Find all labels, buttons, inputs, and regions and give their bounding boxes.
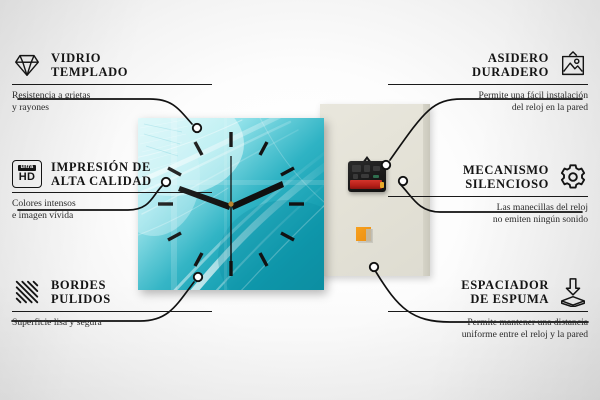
feature-title-line: MECANISMO [463,163,549,177]
arrow-onto-pad-icon [558,277,588,307]
feature-divider [12,84,212,85]
feature-title-line: TEMPLADO [51,65,128,79]
feature-vidrio-templado: VIDRIO TEMPLADO Resistencia a grietas y … [12,50,212,113]
feature-espaciador-de-espuma: ESPACIADOR DE ESPUMA Permite mantener un… [388,277,588,340]
feature-desc-line: uniforme entre el reloj y la pared [388,329,588,341]
battery [350,180,382,189]
feature-asidero-duradero: ASIDERO DURADERO Permite una fácil insta… [388,50,588,113]
hd-label: HD [19,172,36,183]
feature-title: ASIDERO DURADERO [472,51,549,79]
mechanism-detail [361,174,369,178]
feature-title: VIDRIO TEMPLADO [51,51,128,79]
hanging-picture-icon [558,50,588,80]
feature-header: ultra HD IMPRESIÓN DE ALTA CALIDAD [12,160,212,188]
feature-title: MECANISMO SILENCIOSO [463,163,549,191]
mechanism-detail [353,174,358,179]
feature-description: Permite mantener una distancia uniforme … [388,317,588,340]
feature-divider [388,84,588,85]
feature-mecanismo-silencioso: MECANISMO SILENCIOSO Las manecillas del … [388,162,588,225]
hands-hub [228,201,233,206]
feature-divider [12,311,212,312]
feature-desc-line: Permite una fácil instalación [388,90,588,102]
gear-icon [558,162,588,192]
feature-desc-line: Las manecillas del reloj [388,202,588,214]
feature-title: ESPACIADOR DE ESPUMA [461,278,549,306]
feature-bordes-pulidos: BORDES PULIDOS Superficie lisa y segura [12,277,212,329]
feature-description: Permite una fácil instalación del reloj … [388,90,588,113]
feature-title-line: ASIDERO [472,51,549,65]
mechanism-detail [373,175,379,178]
feature-title-line: SILENCIOSO [463,177,549,191]
feature-divider [388,196,588,197]
feature-divider [388,311,588,312]
feature-impresion-alta-calidad: ultra HD IMPRESIÓN DE ALTA CALIDAD Color… [12,160,212,221]
feature-desc-line: Superficie lisa y segura [12,317,212,329]
feature-description: Superficie lisa y segura [12,317,212,329]
mechanism-detail [352,165,361,172]
feature-divider [12,192,212,193]
feature-title-line: DURADERO [472,65,549,79]
mechanism-body [348,161,386,192]
diamond-icon [12,50,42,80]
feature-header: ASIDERO DURADERO [388,50,588,80]
feature-header: MECANISMO SILENCIOSO [388,162,588,192]
feature-desc-line: y rayones [12,102,212,114]
feature-title-line: BORDES [51,278,111,292]
foam-spacer [356,227,371,241]
feature-description: Colores intensos e imagen vívida [12,198,212,221]
feature-header: ESPACIADOR DE ESPUMA [388,277,588,307]
feature-desc-line: no emiten ningún sonido [388,214,588,226]
feature-title: BORDES PULIDOS [51,278,111,306]
infographic-canvas: VIDRIO TEMPLADO Resistencia a grietas y … [0,0,600,400]
feature-desc-line: Permite mantener una distancia [388,317,588,329]
feature-desc-line: e imagen vívida [12,210,212,222]
quartz-mechanism [348,156,386,192]
feature-desc-line: Colores intensos [12,198,212,210]
feature-title-line: PULIDOS [51,292,111,306]
feature-description: Resistencia a grietas y rayones [12,90,212,113]
feature-title: IMPRESIÓN DE ALTA CALIDAD [51,160,152,188]
feature-desc-line: del reloj en la pared [388,102,588,114]
feature-desc-line: Resistencia a grietas [12,90,212,102]
feature-description: Las manecillas del reloj no emiten ningú… [388,202,588,225]
mechanism-detail [364,165,370,172]
minute-hand [231,181,284,210]
feature-title-line: VIDRIO [51,51,128,65]
feature-title-line: DE ESPUMA [461,292,549,306]
feature-header: VIDRIO TEMPLADO [12,50,212,80]
feature-title-line: ESPACIADOR [461,278,549,292]
polished-edges-icon [12,277,42,307]
ultra-hd-badge-icon: ultra HD [12,160,42,188]
feature-title-line: IMPRESIÓN DE [51,160,152,174]
feature-header: BORDES PULIDOS [12,277,212,307]
mechanism-detail [373,166,380,171]
feature-title-line: ALTA CALIDAD [51,174,152,188]
